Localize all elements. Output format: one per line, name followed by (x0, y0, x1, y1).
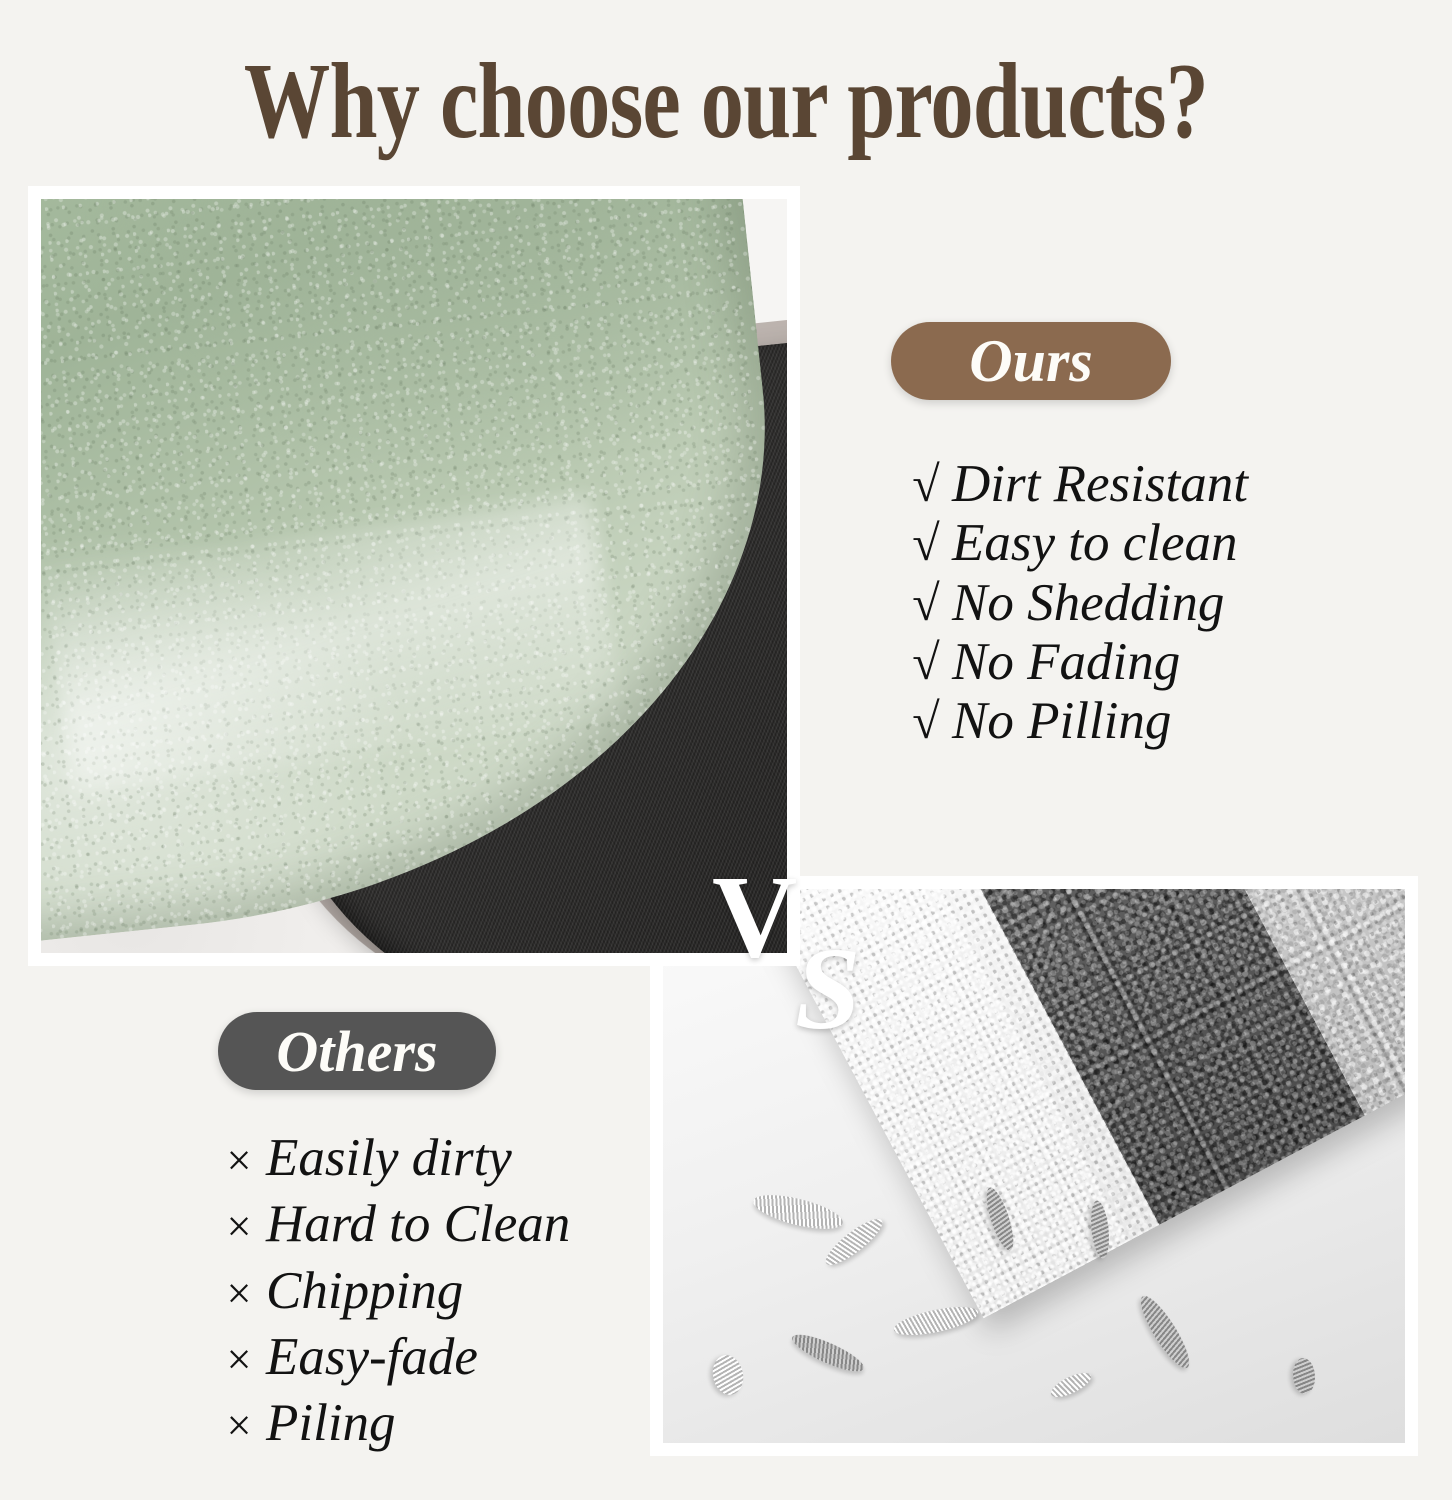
others-feature-list: × Easily dirty × Hard to Clean × Chippin… (212, 1125, 570, 1456)
ours-badge-label: Ours (969, 327, 1092, 396)
list-item: √ Easy to clean (900, 514, 1248, 573)
check-icon: √ (900, 634, 952, 690)
others-badge: Others (218, 1012, 496, 1090)
feature-label: Easily dirty (266, 1125, 512, 1191)
ours-photo-image (41, 199, 787, 953)
list-item: × Hard to Clean (212, 1191, 570, 1257)
feature-label: Easy-fade (266, 1324, 478, 1390)
page-title: Why choose our products? (145, 48, 1307, 156)
list-item: √ No Fading (900, 633, 1248, 692)
cross-icon: × (212, 1199, 266, 1254)
check-icon: √ (900, 575, 952, 631)
ours-badge: Ours (891, 322, 1171, 400)
cross-icon: × (212, 1332, 266, 1387)
cross-icon: × (212, 1133, 266, 1188)
shed-fibre (1292, 1358, 1316, 1395)
cross-icon: × (212, 1398, 266, 1453)
others-badge-label: Others (276, 1018, 437, 1085)
feature-label: Dirt Resistant (952, 455, 1248, 514)
ours-product-photo (28, 186, 800, 966)
feature-label: No Fading (952, 633, 1180, 692)
feature-label: Chipping (266, 1258, 463, 1324)
list-item: √ No Pilling (900, 692, 1248, 751)
list-item: × Piling (212, 1390, 570, 1456)
list-item: √ Dirt Resistant (900, 455, 1248, 514)
list-item: × Easy-fade (212, 1324, 570, 1390)
check-icon: √ (900, 693, 952, 749)
feature-label: Hard to Clean (266, 1191, 570, 1257)
list-item: × Chipping (212, 1258, 570, 1324)
cross-icon: × (212, 1266, 266, 1321)
feature-label: No Pilling (952, 692, 1171, 751)
others-photo-image (663, 889, 1405, 1443)
list-item: × Easily dirty (212, 1125, 570, 1191)
check-icon: √ (900, 515, 952, 571)
feature-label: No Shedding (952, 574, 1224, 633)
ours-feature-list: √ Dirt Resistant √ Easy to clean √ No Sh… (900, 455, 1248, 752)
comparison-infographic: Why choose our products? (0, 0, 1452, 1500)
check-icon: √ (900, 456, 952, 512)
list-item: √ No Shedding (900, 574, 1248, 633)
feature-label: Piling (266, 1390, 396, 1456)
feature-label: Easy to clean (952, 514, 1238, 573)
